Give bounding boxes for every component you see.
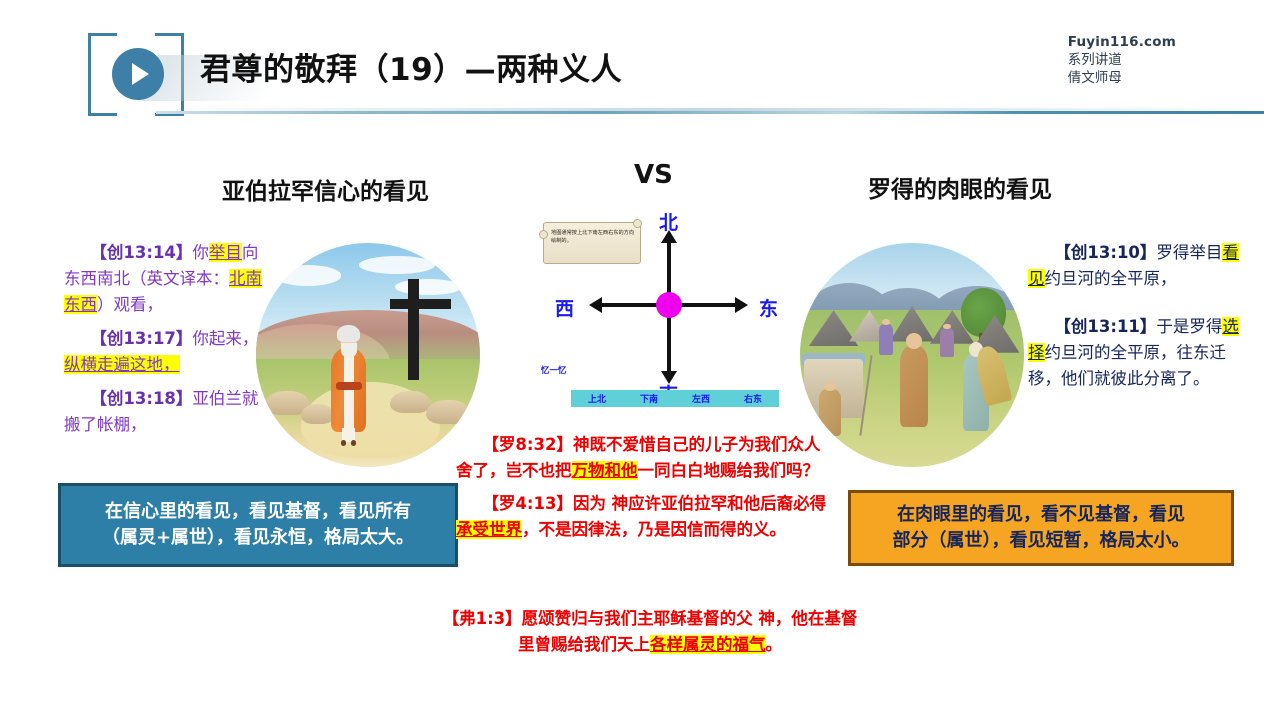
- right-verse-2: 【创13:11】于是罗得选择约旦河的全平原，往东迁移，他们就彼此分离了。: [1028, 314, 1246, 392]
- highlight: 各样属灵的福气: [650, 635, 766, 654]
- center-scripture-text: 【罗8:32】神既不爱惜自己的儿子为我们众人舍了，岂不也把万物和他一同白白地赐给…: [456, 432, 834, 551]
- play-button-icon: [112, 48, 164, 100]
- compass-label-east: 东: [759, 294, 778, 321]
- compass-recall-label: 忆一忆: [541, 364, 567, 376]
- verse-text: 一同白白地赐给我们吗？: [638, 461, 820, 480]
- compass-label-west: 西: [555, 294, 574, 321]
- highlight: 万物和他: [572, 461, 638, 480]
- verse-ref: 【创13:18】: [90, 389, 192, 408]
- brand-series: 系列讲道: [1068, 52, 1176, 70]
- brand-block: Fuyin116.com 系列讲道 倩文师母: [1068, 34, 1176, 87]
- left-verse-1: 【创13:14】你举目向东西南北（英文译本：北南东西）观看，: [64, 240, 264, 318]
- left-summary-line-2: （属灵+属世），看见永恒，格局太大。: [102, 525, 414, 551]
- slide-canvas: 君尊的敬拜（19）—两种义人 Fuyin116.com 系列讲道 倩文师母 亚伯…: [0, 0, 1280, 720]
- verse-ref: 【罗4:13】: [482, 494, 573, 513]
- left-column-heading: 亚伯拉罕信心的看见: [222, 172, 429, 206]
- left-verse-3: 【创13:18】亚伯兰就搬了帐棚，: [64, 386, 264, 438]
- right-summary-box: 在肉眼里的看见，看不见基督，看见 部分（属世），看见短暂，格局太小。: [848, 490, 1234, 566]
- verse-ref: 【创13:14】: [90, 243, 192, 262]
- compass-note: 地图通常按上北下南左西右东的方向绘制的。: [543, 222, 641, 264]
- arrow-west-icon: [589, 297, 602, 313]
- play-triangle-icon: [132, 63, 149, 85]
- vs-label: VS: [634, 160, 673, 190]
- verse-text: 你: [192, 243, 209, 262]
- right-scripture-text: 【创13:10】罗得举目看见约旦河的全平原， 【创13:11】于是罗得选择约旦河…: [1028, 240, 1246, 400]
- cross-icon: [390, 299, 450, 309]
- right-column-heading: 罗得的肉眼的看见: [868, 170, 1052, 204]
- verse-text: ）观看，: [97, 295, 163, 314]
- note-curl-left-icon: [539, 230, 548, 239]
- left-scripture-text: 【创13:14】你举目向东西南北（英文译本：北南东西）观看， 【创13:17】你…: [64, 240, 264, 446]
- dir-bar-item: 左西: [675, 392, 727, 405]
- verse-text: 于是罗得: [1156, 317, 1222, 336]
- center-bottom-scripture-text: 【弗1:3】愿颂赞归与我们主耶稣基督的父 神，他在基督里曾赐给我们天上各样属灵的…: [440, 606, 860, 657]
- brand-speaker: 倩文师母: [1068, 70, 1176, 88]
- highlight: 举目: [209, 243, 242, 262]
- compass-diagram: 地图通常按上北下南左西右东的方向绘制的。 北 南 西 东 忆一忆 上北 下南 左…: [523, 212, 791, 410]
- verse-ref: 【罗8:32】: [482, 435, 573, 454]
- left-summary-box: 在信心里的看见，看见基督，看见所有 （属灵+属世），看见永恒，格局太大。: [58, 483, 458, 567]
- verse-ref: 【创13:17】: [90, 329, 192, 348]
- verse-text: 你起来，: [192, 329, 258, 348]
- page-title: 君尊的敬拜（19）—两种义人: [200, 44, 622, 89]
- verse-text: ，不是因律法，乃是因信而得的义。: [522, 520, 786, 539]
- right-verse-1: 【创13:10】罗得举目看见约旦河的全平原，: [1028, 240, 1246, 292]
- note-curl-right-icon: [633, 219, 642, 228]
- verse-text: 约旦河的全平原，: [1045, 269, 1177, 288]
- header-divider: [156, 111, 1264, 114]
- verse-text: 。: [766, 635, 783, 654]
- highlight: 纵横走遍这地，: [64, 355, 180, 374]
- center-verse-2: 【罗4:13】因为 神应许亚伯拉罕和他后裔必得承受世界，不是因律法，乃是因信而得…: [456, 491, 834, 542]
- dir-bar-item: 下南: [623, 392, 675, 405]
- compass-direction-bar: 上北 下南 左西 右东: [571, 390, 779, 407]
- verse-text: 因为 神应许亚伯拉罕和他后裔必得: [573, 494, 826, 513]
- compass-center-dot: [656, 292, 682, 318]
- verse-ref: 【创13:10】: [1054, 243, 1156, 262]
- left-summary-line-1: 在信心里的看见，看见基督，看见所有: [102, 499, 414, 525]
- left-verse-2: 【创13:17】你起来，纵横走遍这地，: [64, 326, 264, 378]
- center-verse-1: 【罗8:32】神既不爱惜自己的儿子为我们众人舍了，岂不也把万物和他一同白白地赐给…: [456, 432, 834, 483]
- verse-ref: 【弗1:3】: [443, 609, 522, 628]
- compass-label-north: 北: [659, 208, 678, 235]
- right-summary-line-1: 在肉眼里的看见，看不见基督，看见: [893, 502, 1190, 528]
- highlight: 承受世界: [456, 520, 522, 539]
- verse-text: 罗得举目: [1156, 243, 1222, 262]
- dir-bar-item: 上北: [571, 392, 623, 405]
- dir-bar-item: 右东: [727, 392, 779, 405]
- arrow-east-icon: [735, 297, 748, 313]
- verse-ref: 【创13:11】: [1054, 317, 1156, 336]
- abraham-image: [256, 243, 480, 467]
- right-summary-line-2: 部分（属世），看见短暂，格局太小。: [893, 528, 1190, 554]
- brand-site: Fuyin116.com: [1068, 34, 1176, 52]
- verse-text: 约旦河的全平原，往东迁移，他们就彼此分离了。: [1028, 343, 1226, 388]
